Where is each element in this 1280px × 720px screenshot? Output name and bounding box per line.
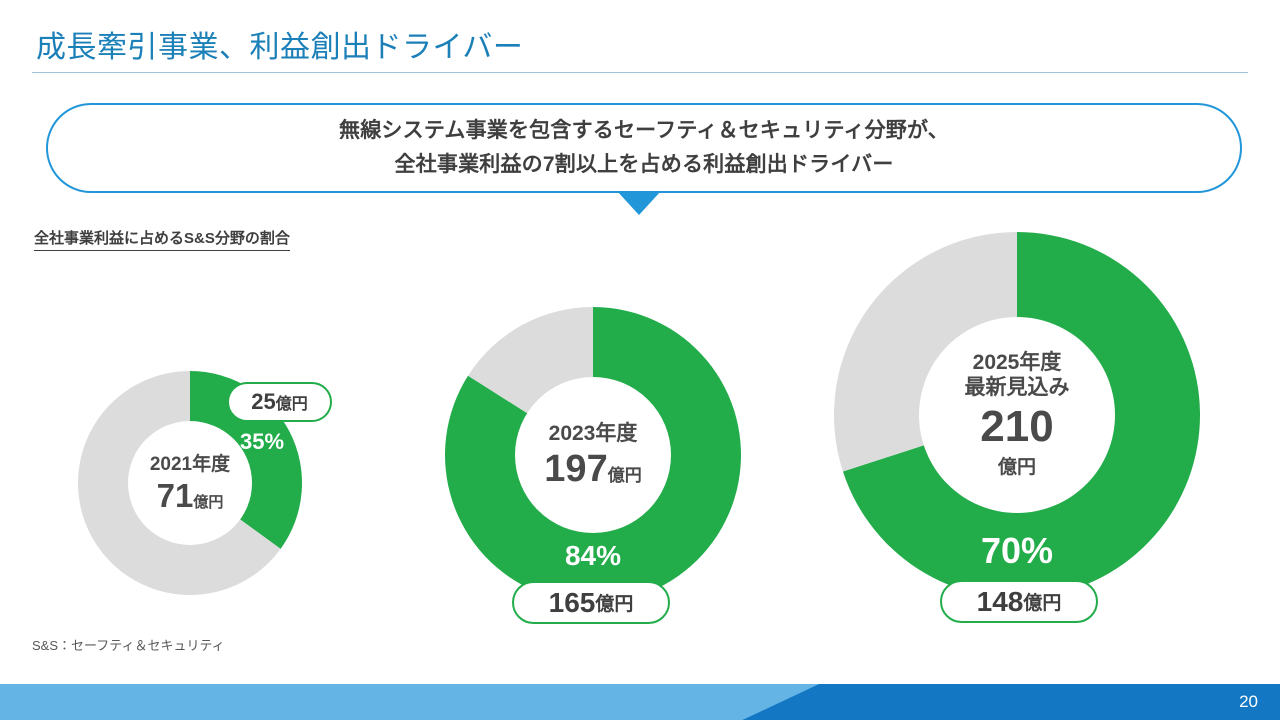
callout-line-1: 無線システム事業を包含するセーフティ＆セキュリティ分野が、	[339, 114, 949, 148]
slide-footer: 20	[0, 684, 1280, 720]
donut-hole	[919, 317, 1115, 513]
badge-number: 165	[549, 587, 596, 619]
donut-value-badge-fy2025: 148億円	[940, 580, 1098, 623]
donut-hole	[515, 377, 671, 533]
footnote: S&S：セーフティ＆セキュリティ	[32, 635, 225, 654]
donut-value-badge-fy2021: 25億円	[227, 382, 332, 422]
sub-caption: 全社事業利益に占めるS&S分野の割合	[34, 227, 290, 251]
badge-unit: 億円	[1023, 588, 1061, 615]
donut-value-badge-fy2023: 165億円	[512, 581, 670, 624]
badge-unit: 億円	[276, 390, 308, 414]
page-title: 成長牽引事業、利益創出ドライバー	[36, 22, 523, 66]
badge-number: 148	[977, 586, 1024, 618]
callout-arrow-icon	[617, 191, 661, 215]
donut-chart-fy2025: 2025年度 最新見込み 210 億円 70%	[834, 232, 1200, 598]
donut-percent-label-fy2025: 70%	[957, 530, 1077, 572]
page-number: 20	[1239, 692, 1258, 712]
title-divider	[32, 72, 1248, 73]
callout-box: 無線システム事業を包含するセーフティ＆セキュリティ分野が、 全社事業利益の7割以…	[46, 103, 1242, 193]
badge-number: 25	[251, 389, 275, 415]
callout-line-2: 全社事業利益の7割以上を占める利益創出ドライバー	[394, 148, 893, 182]
donut-percent-label-fy2023: 84%	[543, 540, 643, 572]
badge-unit: 億円	[595, 589, 633, 616]
donut-chart-fy2023: 2023年度 197億円 84%	[445, 307, 741, 603]
donut-percent-label-fy2021: 35%	[226, 429, 298, 455]
